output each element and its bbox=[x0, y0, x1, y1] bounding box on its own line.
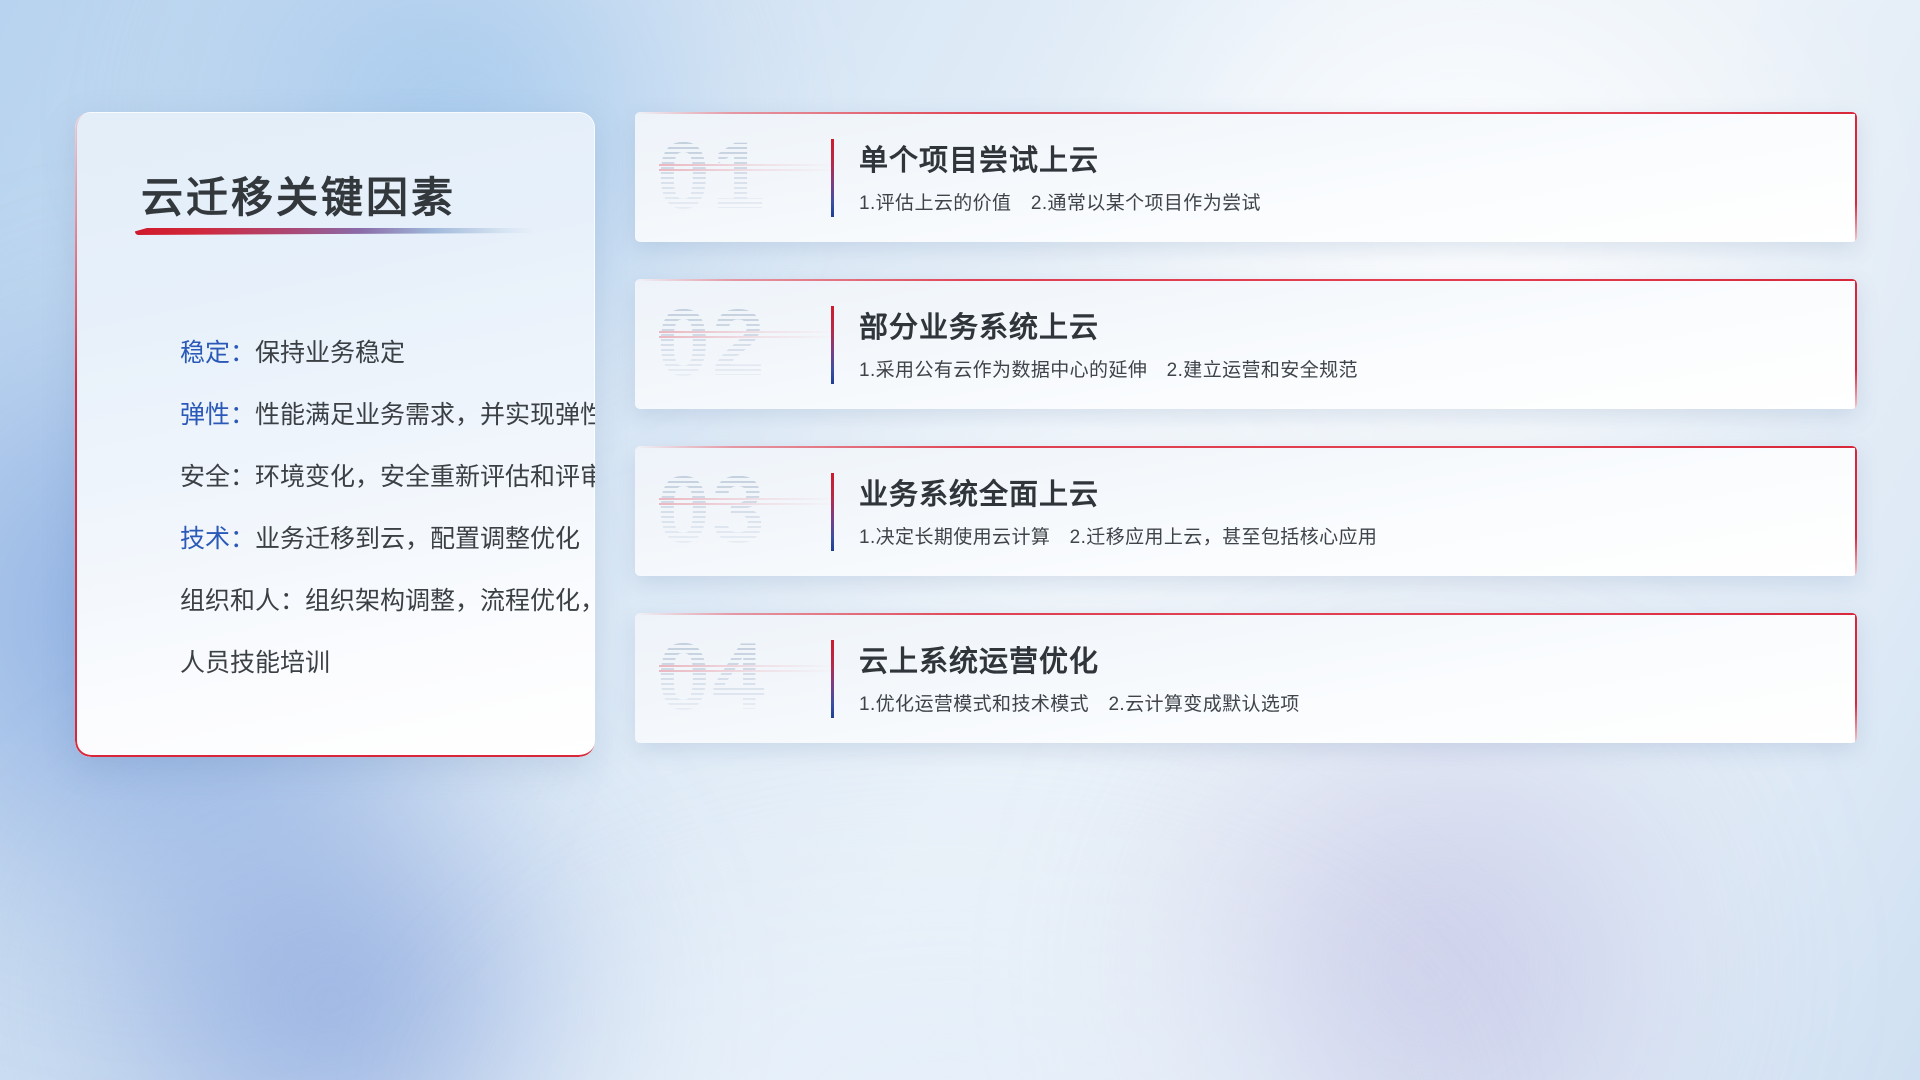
stage-number-text: 01 bbox=[657, 122, 767, 231]
stage-title: 业务系统全面上云 bbox=[859, 471, 1099, 513]
stage-number-text: 03 bbox=[657, 456, 767, 565]
stage-number-red-tint bbox=[659, 498, 839, 506]
stage-number-red-tint bbox=[659, 164, 839, 172]
factor-description: 组织架构调整，流程优化， bbox=[305, 589, 595, 614]
card-top-accent bbox=[635, 613, 1857, 615]
stage-card[interactable]: 01单个项目尝试上云1.评估上云的价值 2.通常以某个项目作为尝试 bbox=[635, 112, 1857, 242]
stage-card[interactable]: 02部分业务系统上云1.采用公有云作为数据中心的延伸 2.建立运营和安全规范 bbox=[635, 279, 1857, 409]
factor-row: 安全：环境变化，安全重新评估和评审 bbox=[180, 446, 571, 508]
stage-title: 单个项目尝试上云 bbox=[859, 137, 1099, 179]
stage-number-text: 04 bbox=[657, 623, 767, 732]
card-right-accent bbox=[1855, 446, 1857, 576]
card-divider-bar bbox=[831, 139, 834, 217]
title-underline-accent bbox=[135, 228, 535, 235]
stage-card[interactable]: 04云上系统运营优化1.优化运营模式和技术模式 2.云计算变成默认选项 bbox=[635, 613, 1857, 743]
card-top-accent bbox=[635, 112, 1857, 114]
factor-label: 技术： bbox=[180, 527, 255, 552]
factor-label: 弹性： bbox=[180, 403, 255, 428]
factor-list: 稳定：保持业务稳定弹性：性能满足业务需求，并实现弹性安全：环境变化，安全重新评估… bbox=[180, 322, 571, 694]
factor-row: 弹性：性能满足业务需求，并实现弹性 bbox=[180, 384, 571, 446]
stage-title: 部分业务系统上云 bbox=[859, 304, 1099, 346]
stage-title: 云上系统运营优化 bbox=[859, 638, 1099, 680]
factor-description: 环境变化，安全重新评估和评审 bbox=[255, 465, 595, 490]
card-right-accent bbox=[1855, 279, 1857, 409]
stage-number-red-tint bbox=[659, 331, 839, 339]
stage-subtitle: 1.采用公有云作为数据中心的延伸 2.建立运营和安全规范 bbox=[859, 355, 1358, 382]
card-right-accent bbox=[1855, 112, 1857, 242]
factor-label: 安全： bbox=[180, 465, 255, 490]
factor-label: 稳定： bbox=[180, 341, 255, 366]
key-factors-panel: 云迁移关键因素 稳定：保持业务稳定弹性：性能满足业务需求，并实现弹性安全：环境变… bbox=[75, 112, 595, 757]
page-title: 云迁移关键因素 bbox=[141, 164, 456, 225]
factor-row: 技术：业务迁移到云，配置调整优化 bbox=[180, 508, 571, 570]
factor-description: 性能满足业务需求，并实现弹性 bbox=[255, 403, 595, 428]
card-divider-bar bbox=[831, 640, 834, 718]
factor-description: 人员技能培训 bbox=[180, 651, 330, 676]
stage-number-red-tint bbox=[659, 665, 839, 673]
background-white-glow-bottom bbox=[200, 740, 1700, 1080]
stage-card[interactable]: 03业务系统全面上云1.决定长期使用云计算 2.迁移应用上云，甚至包括核心应用 bbox=[635, 446, 1857, 576]
card-top-accent bbox=[635, 279, 1857, 281]
stage-subtitle: 1.优化运营模式和技术模式 2.云计算变成默认选项 bbox=[859, 689, 1300, 716]
card-divider-bar bbox=[831, 473, 834, 551]
card-divider-bar bbox=[831, 306, 834, 384]
stage-number-watermark: 01 bbox=[657, 122, 767, 231]
factor-description: 保持业务稳定 bbox=[255, 341, 405, 366]
migration-stage-list: 01单个项目尝试上云1.评估上云的价值 2.通常以某个项目作为尝试02部分业务系… bbox=[635, 112, 1857, 780]
stage-subtitle: 1.评估上云的价值 2.通常以某个项目作为尝试 bbox=[859, 188, 1261, 215]
factor-label: 组织和人： bbox=[180, 589, 305, 614]
stage-number-watermark: 04 bbox=[657, 623, 767, 732]
card-right-accent bbox=[1855, 613, 1857, 743]
factor-description: 业务迁移到云，配置调整优化 bbox=[255, 527, 580, 552]
stage-number-text: 02 bbox=[657, 289, 767, 398]
factor-row: 稳定：保持业务稳定 bbox=[180, 322, 571, 384]
stage-number-watermark: 03 bbox=[657, 456, 767, 565]
stage-subtitle: 1.决定长期使用云计算 2.迁移应用上云，甚至包括核心应用 bbox=[859, 522, 1377, 549]
stage-number-watermark: 02 bbox=[657, 289, 767, 398]
card-top-accent bbox=[635, 446, 1857, 448]
factor-row: 人员技能培训 bbox=[180, 632, 571, 694]
factor-row: 组织和人：组织架构调整，流程优化， bbox=[180, 570, 571, 632]
